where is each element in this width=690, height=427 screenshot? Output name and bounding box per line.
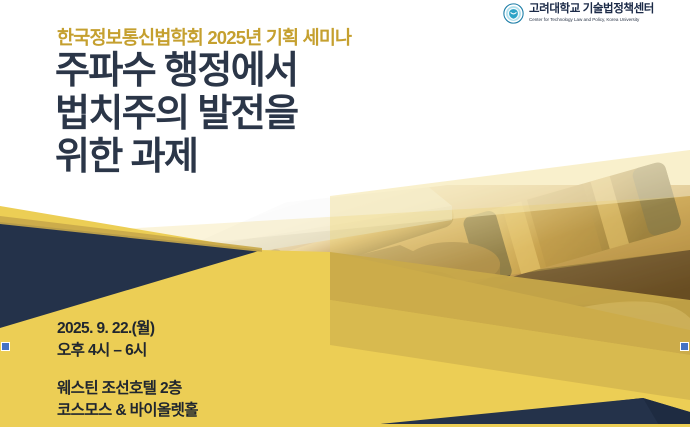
selection-handle-left[interactable] bbox=[1, 342, 10, 351]
title-line-2: 법치주의 발전을 bbox=[55, 93, 297, 136]
event-venue-line-1: 웨스틴 조선호텔 2층 bbox=[57, 378, 198, 400]
selection-handle-right[interactable] bbox=[680, 342, 689, 351]
event-venue-line-2: 코스모스 & 바이올렛홀 bbox=[57, 400, 198, 422]
info-spacer bbox=[57, 362, 198, 378]
organization-logo: 고려대학교 기술법정책센터 Center for Technology Law … bbox=[503, 3, 654, 24]
event-time: 오후 4시 – 6시 bbox=[57, 340, 198, 362]
logo-title-korean: 고려대학교 기술법정책센터 bbox=[529, 4, 654, 16]
title-line-1: 주파수 행정에서 bbox=[55, 50, 297, 93]
poster-title: 주파수 행정에서 법치주의 발전을 위한 과제 bbox=[55, 50, 297, 179]
logo-subtitle-english: Center for Technology Law and Policy, Ko… bbox=[529, 18, 654, 23]
seminar-poster: 고려대학교 기술법정책센터 Center for Technology Law … bbox=[0, 0, 690, 427]
seminar-eyebrow: 한국정보통신법학회 2025년 기획 세미나 bbox=[57, 24, 351, 50]
logo-text-group: 고려대학교 기술법정책센터 Center for Technology Law … bbox=[529, 4, 654, 22]
event-date: 2025. 9. 22.(월) bbox=[57, 318, 198, 340]
korea-university-emblem-icon bbox=[503, 3, 524, 24]
event-info: 2025. 9. 22.(월) 오후 4시 – 6시 웨스틴 조선호텔 2층 코… bbox=[57, 318, 198, 422]
title-line-3: 위한 과제 bbox=[55, 136, 297, 179]
